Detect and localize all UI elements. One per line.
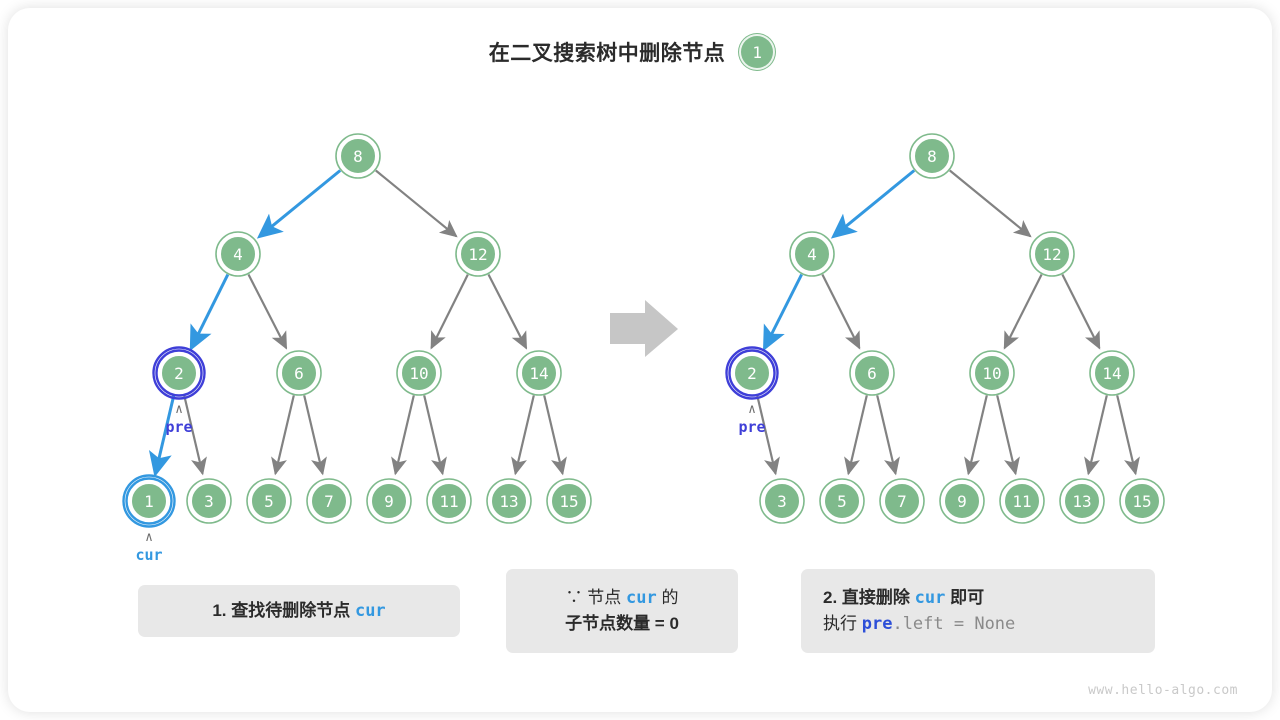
node-value: 15 xyxy=(559,492,578,511)
caption-step-1-keyword: cur xyxy=(355,601,386,621)
node-value: 14 xyxy=(1102,364,1121,383)
tree-edge xyxy=(191,275,227,348)
tree-edge xyxy=(1117,395,1135,473)
caption-step-2-suffix: 即可 xyxy=(945,588,984,607)
tree-node[interactable]: 13 xyxy=(1060,479,1104,523)
caption-step-2-code: .left = None xyxy=(892,614,1015,634)
node-value: 11 xyxy=(439,492,458,511)
tree-node[interactable]: 3 xyxy=(760,479,804,523)
tree-node[interactable]: 2 xyxy=(154,348,205,399)
pointer-label-cur: cur xyxy=(135,546,162,564)
node-value: 2 xyxy=(174,364,184,383)
pointer-label-pre: pre xyxy=(165,418,192,436)
tree-node[interactable]: 1 xyxy=(124,476,175,527)
tree-edge xyxy=(822,275,859,349)
caption-step-2-exec-prefix: 执行 xyxy=(823,614,862,633)
node-value: 9 xyxy=(957,492,967,511)
node-value: 3 xyxy=(777,492,787,511)
tree-edge xyxy=(515,395,533,473)
caption-step-1-line: 1. 查找待删除节点 cur xyxy=(212,598,385,624)
tree-edge xyxy=(249,275,287,349)
tree-edge xyxy=(1062,275,1099,349)
node-value: 3 xyxy=(204,492,214,511)
node-value: 13 xyxy=(499,492,518,511)
tree-edge xyxy=(260,171,341,237)
node-value: 2 xyxy=(747,364,757,383)
caption-step-1-prefix: 1. 查找待删除节点 xyxy=(212,601,355,620)
caption-step-2-line-1: 2. 直接删除 cur 即可 xyxy=(823,585,1155,611)
caption-reason-line-1: ∵ 节点 cur 的 xyxy=(566,585,679,611)
tree-node[interactable]: 15 xyxy=(1120,479,1164,523)
tree-edge xyxy=(395,395,413,473)
node-value: 1 xyxy=(144,492,154,511)
tree-node[interactable]: 12 xyxy=(1030,232,1074,276)
tree-edge xyxy=(968,395,986,473)
tree-node[interactable]: 6 xyxy=(277,351,321,395)
tree-edge xyxy=(834,171,915,237)
caption-step-1: 1. 查找待删除节点 cur xyxy=(138,585,460,637)
tree-node[interactable]: 11 xyxy=(427,479,471,523)
tree-edge xyxy=(765,275,802,349)
node-value: 14 xyxy=(529,364,548,383)
caption-step-2-pre-keyword: pre xyxy=(862,614,893,634)
tree-edge xyxy=(424,395,442,473)
tree-edge xyxy=(304,395,322,473)
tree-node[interactable]: 10 xyxy=(970,351,1014,395)
node-value: 10 xyxy=(982,364,1001,383)
tree-edge xyxy=(950,171,1031,237)
tree-node[interactable]: 7 xyxy=(880,479,924,523)
node-value: 10 xyxy=(409,364,428,383)
node-value: 8 xyxy=(353,147,363,166)
node-value: 7 xyxy=(897,492,907,511)
node-value: 15 xyxy=(1132,492,1151,511)
caption-reason-prefix: ∵ 节点 xyxy=(566,588,626,607)
tree-node[interactable]: 4 xyxy=(216,232,260,276)
tree-node[interactable]: 7 xyxy=(307,479,351,523)
node-value: 9 xyxy=(384,492,394,511)
tree-node[interactable]: 11 xyxy=(1000,479,1044,523)
tree-edge xyxy=(997,395,1015,473)
node-value: 12 xyxy=(468,245,487,264)
caption-reason-line-2: 子节点数量 = 0 xyxy=(565,611,679,637)
node-value: 12 xyxy=(1042,245,1061,264)
node-value: 7 xyxy=(324,492,334,511)
footer-url: www.hello-algo.com xyxy=(1088,683,1238,698)
tree-node[interactable]: 15 xyxy=(547,479,591,523)
tree-node[interactable]: 10 xyxy=(397,351,441,395)
caption-reason-keyword: cur xyxy=(626,588,657,608)
node-value: 6 xyxy=(867,364,877,383)
tree-node[interactable]: 2 xyxy=(727,348,778,399)
node-value: 8 xyxy=(927,147,937,166)
pointer-caret-icon: ∧ xyxy=(748,402,756,417)
pointer-caret-icon: ∧ xyxy=(175,402,183,417)
tree-edge xyxy=(1005,275,1042,349)
pointer-caret-icon: ∧ xyxy=(145,530,153,545)
tree-node[interactable]: 9 xyxy=(367,479,411,523)
tree-node[interactable]: 8 xyxy=(336,134,380,178)
tree-edge xyxy=(1088,395,1106,473)
node-value: 5 xyxy=(264,492,274,511)
caption-step-2-prefix: 2. 直接删除 xyxy=(823,588,915,607)
tree-node[interactable]: 4 xyxy=(790,232,834,276)
caption-reason-suffix: 的 xyxy=(657,588,679,607)
tree-node[interactable]: 14 xyxy=(1090,351,1134,395)
tree-node[interactable]: 12 xyxy=(456,232,500,276)
tree-node[interactable]: 5 xyxy=(247,479,291,523)
caption-step-2-keyword: cur xyxy=(915,588,946,608)
tree-node[interactable]: 6 xyxy=(850,351,894,395)
tree-edge xyxy=(544,395,562,473)
tree-node[interactable]: 13 xyxy=(487,479,531,523)
tree-edge xyxy=(275,395,293,473)
diagram-page: 在二叉搜索树中删除节点 1 84122610141357911131584122… xyxy=(0,0,1280,720)
node-value: 6 xyxy=(294,364,304,383)
tree-edge xyxy=(431,275,467,348)
caption-step-2: 2. 直接删除 cur 即可 执行 pre.left = None xyxy=(801,569,1155,653)
node-value: 4 xyxy=(233,245,243,264)
tree-edge xyxy=(877,395,895,473)
tree-edge xyxy=(848,395,866,473)
tree-node[interactable]: 9 xyxy=(940,479,984,523)
caption-reason: ∵ 节点 cur 的 子节点数量 = 0 xyxy=(506,569,738,653)
right-arrow-icon xyxy=(610,300,678,357)
node-value: 4 xyxy=(807,245,817,264)
pointer-label-pre: pre xyxy=(738,418,765,436)
node-value: 11 xyxy=(1012,492,1031,511)
tree-edge xyxy=(489,275,527,349)
tree-edge xyxy=(376,171,457,237)
node-value: 13 xyxy=(1072,492,1091,511)
tree-node[interactable]: 8 xyxy=(910,134,954,178)
caption-step-2-line-2: 执行 pre.left = None xyxy=(823,611,1155,637)
tree-node[interactable]: 3 xyxy=(187,479,231,523)
tree-node[interactable]: 14 xyxy=(517,351,561,395)
transition-arrow xyxy=(610,300,678,357)
node-value: 5 xyxy=(837,492,847,511)
tree-node[interactable]: 5 xyxy=(820,479,864,523)
